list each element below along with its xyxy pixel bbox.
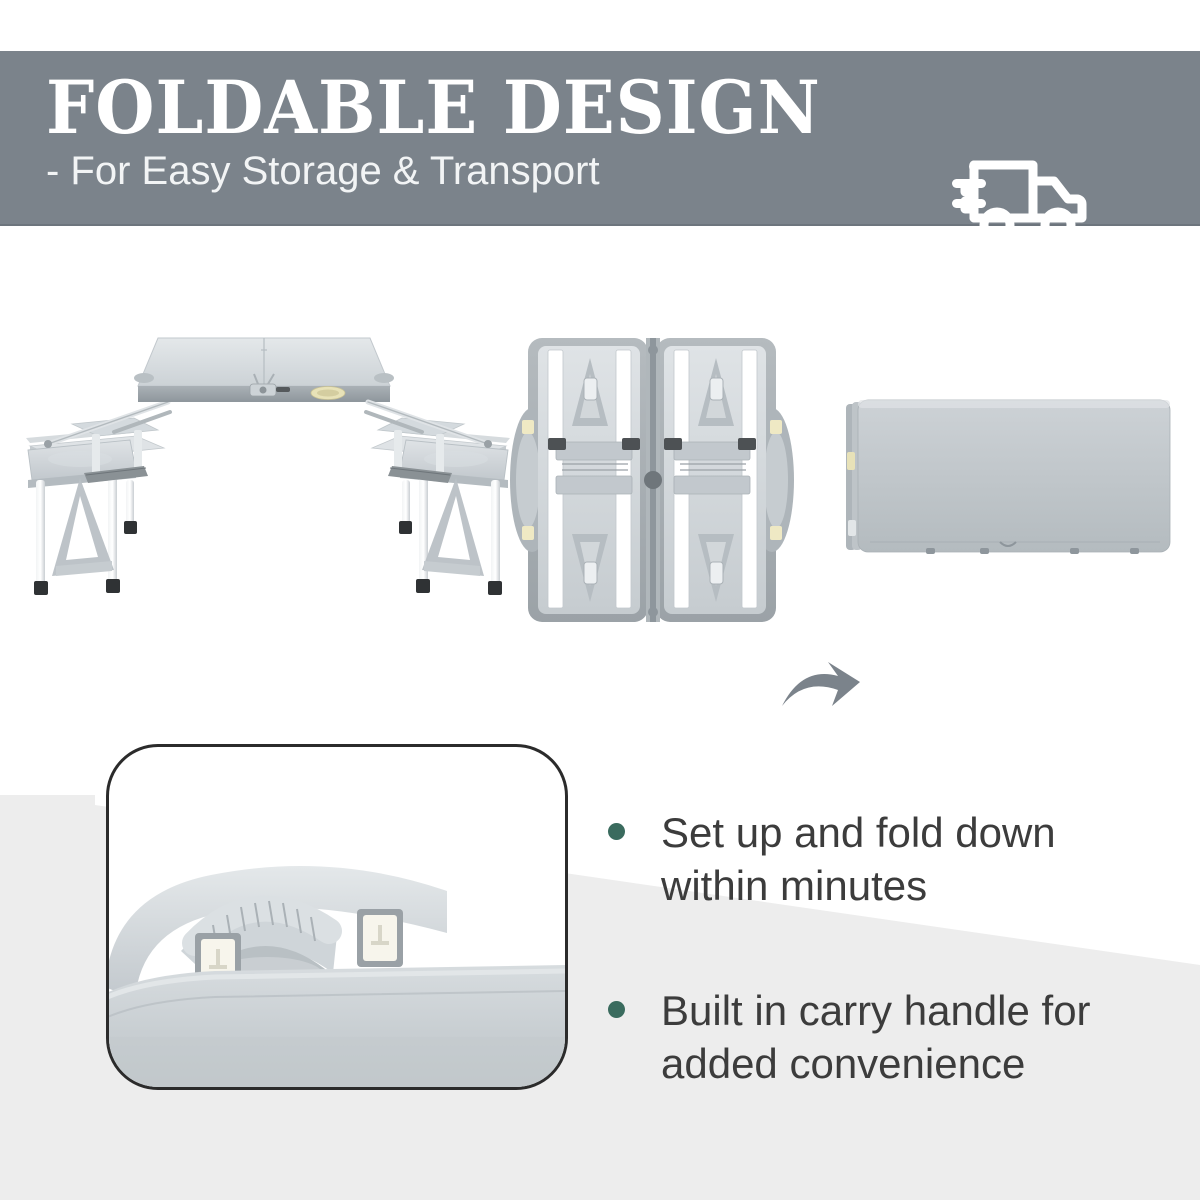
bullet-icon [608,1001,625,1018]
product-step-row [0,300,1200,660]
page-subtitle: - For Easy Storage & Transport [46,147,821,195]
bullet-icon [608,823,625,840]
detail-photo-frame [106,744,568,1090]
carry-handle-closeup-image [106,791,568,1090]
product-image-table-closed-case [830,360,1180,575]
feature-item-1: Set up and fold down within minutes [608,806,1168,912]
header-text-block: FOLDABLE DESIGN - For Easy Storage & Tra… [46,67,821,195]
header-banner: FOLDABLE DESIGN - For Easy Storage & Tra… [0,51,1200,226]
feature-list: Set up and fold down within minutes Buil… [608,806,1168,1162]
product-image-table-folded-open [498,330,808,630]
product-image-table-unfolded [18,328,518,638]
feature-item-2: Built in carry handle for added convenie… [608,984,1168,1090]
page-title: FOLDABLE DESIGN [46,67,821,149]
feature-text-2: Built in carry handle for added convenie… [661,984,1168,1090]
delivery-truck-icon [952,149,1088,243]
step-arrow-2-icon [776,656,862,734]
feature-text-1: Set up and fold down within minutes [661,806,1168,912]
